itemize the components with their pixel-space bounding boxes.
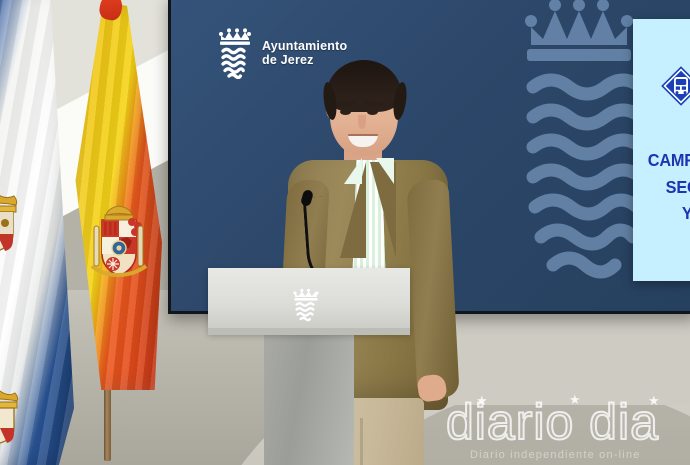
podium-stem xyxy=(264,334,354,465)
flag-jerez xyxy=(0,0,78,465)
jerez-coat-of-arms-lower-icon xyxy=(0,388,26,444)
bus-lane-sign xyxy=(660,65,690,107)
spain-coat-of-arms-icon xyxy=(88,202,150,280)
speaker-nose xyxy=(358,115,366,129)
podium-edge xyxy=(208,328,410,335)
flag-spain-folds xyxy=(70,2,162,390)
screenshot-root: Ayuntamiento de Jerez xyxy=(0,0,690,465)
collar-left xyxy=(344,158,362,184)
speaker-eye-left xyxy=(340,109,351,115)
poster-line-3: Y MOVILIDAD xyxy=(640,200,690,227)
jerez-crest-crown-waves-icon xyxy=(292,288,320,322)
campaign-poster: CAMPAÑA REFUERZO SEGURIDAD VIAL Y MOVILI… xyxy=(633,19,690,281)
poster-headline: CAMPAÑA REFUERZO SEGURIDAD VIAL Y MOVILI… xyxy=(640,147,690,227)
poster-line-1: CAMPAÑA REFUERZO xyxy=(640,147,690,174)
poster-road-signs xyxy=(633,57,690,127)
speaker-eye-right xyxy=(367,109,378,115)
speaker-collar xyxy=(340,158,398,184)
collar-right xyxy=(376,158,394,184)
podium xyxy=(208,268,410,465)
jerez-coat-of-arms-icon xyxy=(0,190,24,252)
logo-line-1: Ayuntamiento xyxy=(262,39,347,53)
jerez-crest-crown-waves-icon xyxy=(217,27,253,79)
poster-line-2: SEGURIDAD VIAL xyxy=(640,174,690,201)
